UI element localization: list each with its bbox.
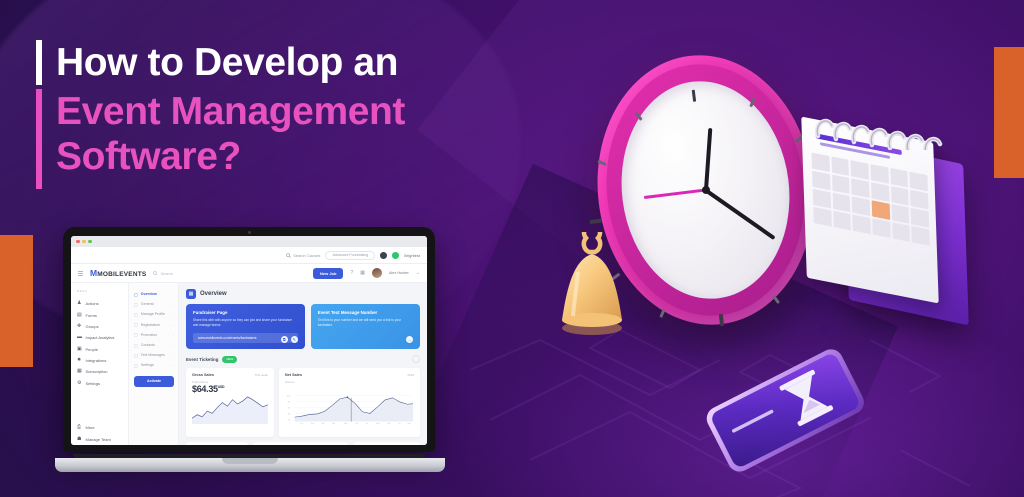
sidebar-spacer (77, 389, 123, 422)
svg-text:Sep: Sep (387, 423, 390, 425)
sidebar: MENU ♟ Actions ▤ Forms ✥ Groups (71, 283, 129, 445)
status-badge: NEW (222, 356, 237, 363)
subnav-item-label: Contacts (141, 343, 155, 347)
promo-actions: ⧉ ✎ (281, 336, 298, 343)
calendar-day (851, 178, 869, 198)
sidebar-item-integrations[interactable]: ✸ Integrations (77, 355, 123, 366)
headline-block: How to Develop an Event Management Softw… (36, 40, 506, 189)
contacts-icon: ▢ (134, 343, 138, 348)
headline-line-3: Software? (56, 134, 405, 179)
card-ticket-type-sales: Ticket Type Sales ⋯ General 500 Sold (353, 442, 420, 445)
hamburger-icon[interactable] (78, 271, 83, 276)
decor-bar-left (0, 235, 33, 367)
card-event-date: Event Date Starts 27 Jun, 2019 (186, 442, 248, 445)
sidebar-item-more[interactable]: ⎙ More (77, 422, 123, 433)
card-total-emails-sent: Total Emails Sent ⋯ ✉ Total sent 2780 (253, 442, 348, 445)
maximize-icon[interactable] (88, 240, 92, 244)
svg-text:Aug: Aug (376, 422, 379, 425)
calendar-day (891, 186, 909, 206)
clock-minute-hand (704, 189, 775, 240)
card-title: Net Sales (285, 373, 302, 377)
banner-root: How to Develop an Event Management Softw… (0, 0, 1024, 497)
minimize-icon[interactable] (82, 240, 86, 244)
calendar-day (912, 226, 930, 246)
chevron-right-icon: › (173, 312, 174, 316)
new-job-button[interactable]: New Job (313, 268, 343, 279)
help-icon[interactable]: ? (350, 270, 353, 276)
subnav-item-registration[interactable]: ▢ Registration › (134, 320, 174, 330)
svg-text:Mar: Mar (321, 422, 325, 425)
laptop-mockup: Search Causes Advanced Fundraising Brigh… (55, 227, 445, 472)
app-header: MMOBILEVENTS Search New Job ? ▦ Alex Hun… (71, 264, 427, 283)
calendar-day (812, 171, 830, 191)
dashboard-body: MENU ♟ Actions ▤ Forms ✥ Groups (71, 283, 427, 445)
team-icon: ☗ (77, 437, 82, 442)
clock-tick (691, 90, 696, 102)
avatar[interactable] (372, 268, 382, 278)
calendar-day (891, 204, 909, 224)
subnav-item-general[interactable]: ▢ General › (134, 299, 174, 309)
subnav-item-promotion[interactable]: ▢ Promotion › (134, 330, 174, 340)
calendar-day (890, 168, 908, 188)
subnav-item-label: Manage Profile (141, 312, 165, 316)
calendar-day (872, 218, 890, 238)
search-causes-label: Search Causes (293, 253, 320, 258)
promo-title: Event Text Message Number (318, 310, 413, 315)
activate-button[interactable]: Activate (134, 376, 174, 387)
user-name-label: Alex Hunter (389, 271, 409, 275)
search-causes[interactable]: Search Causes (286, 253, 320, 258)
card-value: $64.35USD (192, 384, 268, 394)
subnav-item-contacts[interactable]: ▢ Contacts › (134, 340, 174, 350)
laptop-lid: Search Causes Advanced Fundraising Brigh… (63, 227, 435, 452)
search-icon (286, 253, 291, 258)
promo-card-fundraiser[interactable]: Fundraiser Page Share this with with any… (186, 304, 305, 349)
subnav-item-text-messages[interactable]: ▢ Text Messages › (134, 350, 174, 360)
subnav-item-label: Text Messages (141, 353, 165, 357)
svg-text:Jun: Jun (355, 423, 358, 425)
webcam-icon (248, 231, 251, 234)
app-search-placeholder: Search (160, 271, 173, 276)
sidebar-item-label: Groups (86, 324, 99, 329)
sidebar-item-settings[interactable]: ⚙ Settings (77, 378, 123, 389)
svg-text:80: 80 (288, 402, 291, 404)
plug-icon: ✸ (77, 358, 82, 363)
analytics-icon: ▬ (77, 335, 82, 340)
promo-description: Share this with with anyone so they can … (193, 318, 298, 327)
gear-icon[interactable] (380, 252, 387, 259)
subnav-item-label: Registration (141, 323, 160, 327)
svg-text:Oct: Oct (398, 422, 401, 425)
promo-row: Fundraiser Page Share this with with any… (186, 304, 420, 349)
card-icon: ▦ (77, 369, 82, 374)
chevron-right-icon: › (173, 323, 174, 327)
smartphone (692, 338, 877, 483)
sidebar-item-people[interactable]: ▣ People (77, 344, 123, 355)
sidebar-item-label: Manage Team (86, 437, 111, 442)
sidebar-item-label: Subscription (86, 369, 108, 374)
sidebar-item-label: Forms (86, 313, 97, 318)
charts-row: Gross Sales This week Total Volume $64.3… (186, 368, 420, 437)
groups-icon: ✥ (77, 324, 82, 329)
calendar-day (910, 172, 928, 192)
chevron-right-icon: › (173, 353, 174, 357)
promo-card-text-message[interactable]: Event Text Message Number Text this to y… (311, 304, 420, 349)
subnav-item-manage-profile[interactable]: ▢ Manage Profile › (134, 309, 174, 319)
gross-sales-currency: USD (218, 385, 225, 389)
stats-row: Event Date Starts 27 Jun, 2019 (186, 442, 420, 445)
chevron-right-icon: › (173, 333, 174, 337)
gross-sales-value: $64.35 (192, 384, 218, 394)
promo-actions: → (406, 336, 413, 343)
check-circle-icon[interactable] (392, 252, 399, 259)
calendar-day (910, 190, 928, 210)
grid-icon: ▦ (186, 289, 196, 299)
subnav-item-label: Promotion (141, 333, 157, 337)
calendar-day (831, 156, 849, 176)
edit-icon[interactable]: ✎ (291, 336, 298, 343)
clock-hour-hand (704, 128, 712, 190)
refresh-icon[interactable] (412, 355, 420, 363)
section-header-event-ticketing: Event Ticketing NEW (186, 355, 420, 363)
advanced-fundraising-pill[interactable]: Advanced Fundraising (325, 251, 375, 260)
calendar-day (811, 152, 829, 172)
headline-accent-bar-pink (36, 89, 42, 189)
calendar-day (813, 207, 831, 227)
general-icon: ▢ (134, 302, 138, 307)
laptop-screen: Search Causes Advanced Fundraising Brigh… (71, 236, 427, 445)
sidebar-item-label: Impact Analytics (86, 335, 115, 340)
gear-icon: ⚙ (77, 381, 82, 386)
section-title: Event Ticketing (186, 357, 218, 362)
svg-text:Jan: Jan (300, 423, 303, 425)
headline-line-1: How to Develop an (56, 40, 398, 85)
main-content: ▦ Overview Fundraiser Page Share this wi… (179, 283, 427, 445)
chevron-right-icon: › (173, 302, 174, 306)
svg-text:May: May (344, 423, 348, 425)
sidebar-item-groups[interactable]: ✥ Groups (77, 321, 123, 332)
registration-icon: ▢ (134, 322, 138, 327)
svg-text:Nov: Nov (408, 423, 411, 425)
copy-icon[interactable]: ⧉ (281, 336, 288, 343)
chevron-right-icon: › (173, 343, 174, 347)
arrow-icon[interactable]: → (406, 336, 413, 343)
page-title: Overview (200, 291, 227, 297)
page-title-block: ▦ Overview (186, 289, 420, 299)
svg-text:100: 100 (287, 396, 291, 398)
sidebar-item-label: Integrations (86, 358, 107, 363)
browser-chrome (71, 236, 427, 247)
svg-text:60: 60 (288, 408, 291, 410)
site-top-bar: Search Causes Advanced Fundraising Brigh… (71, 247, 427, 264)
calendar-day (870, 164, 888, 184)
close-icon[interactable] (76, 240, 80, 244)
promo-title: Fundraiser Page (193, 310, 298, 315)
sidebar-item-subscription[interactable]: ▦ Subscription (77, 366, 123, 377)
headline-accent-bar-white (36, 40, 42, 85)
calendar-day (853, 215, 871, 235)
calendar-day (813, 189, 831, 209)
calendar-spiral-binding (810, 110, 950, 150)
printer-icon: ⎙ (77, 425, 82, 430)
calendar-day-highlighted (872, 200, 890, 220)
actions-icon: ♟ (77, 301, 82, 306)
profile-icon: ▢ (134, 312, 138, 317)
gross-sales-area-chart (192, 394, 268, 424)
card-title: Gross Sales (192, 373, 214, 377)
subnav-item-label: Settings (141, 363, 154, 367)
app-search-input[interactable]: Search (153, 271, 306, 276)
notification-bell (556, 232, 628, 337)
svg-text:Feb: Feb (311, 423, 314, 425)
calendar-day (851, 160, 869, 180)
overview-icon: ▢ (134, 292, 138, 297)
card-gross-sales: Gross Sales This week Total Volume $64.3… (186, 368, 274, 437)
svg-text:40: 40 (288, 414, 291, 416)
promo-description: Text this to your number and we will sen… (318, 318, 413, 327)
gear-icon: ▢ (134, 363, 138, 368)
sub-navigation: ▢ Overview ▢ General › ▢ Manage Profile … (129, 283, 179, 445)
account-menu[interactable]: Brightest (404, 253, 420, 258)
net-sales-area-chart: 10080 6040 20 JanFebMar (285, 384, 414, 432)
chevron-right-icon: › (173, 363, 174, 367)
sidebar-item-label: People (86, 347, 98, 352)
sidebar-section-label: MENU (77, 289, 123, 293)
subnav-item-overview[interactable]: ▢ Overview (134, 289, 174, 299)
promotion-icon: ▢ (134, 332, 138, 337)
calendar-day (911, 208, 929, 228)
svg-text:Jul: Jul (366, 423, 369, 425)
sidebar-item-actions[interactable]: ♟ Actions (77, 298, 123, 309)
app-logo-text: MOBILEVENTS (97, 271, 146, 278)
forms-icon: ▤ (77, 313, 82, 318)
sidebar-item-impact-analytics[interactable]: ▬ Impact Analytics (77, 332, 123, 343)
clock-second-hand (644, 189, 706, 200)
subnav-item-label: Overview (141, 292, 157, 296)
sidebar-item-manage-team[interactable]: ☗ Manage Team (77, 434, 123, 445)
decor-bar-right (994, 47, 1024, 178)
people-icon: ▣ (77, 347, 82, 352)
grid-icon[interactable]: ▦ (360, 270, 365, 276)
calendar-day (833, 211, 851, 231)
calendar-day (892, 222, 910, 242)
chevron-down-icon[interactable]: ⌄ (416, 270, 420, 276)
svg-text:20: 20 (288, 420, 291, 422)
calendar-day (852, 196, 870, 216)
sidebar-item-label: More (86, 425, 95, 430)
calendar-day (832, 193, 850, 213)
sidebar-item-label: Actions (86, 301, 99, 306)
desk-calendar (800, 108, 965, 323)
calendar-day (871, 182, 889, 202)
card-menu[interactable]: This week (254, 373, 268, 377)
app-logo[interactable]: MMOBILEVENTS (90, 268, 146, 278)
sidebar-item-label: Settings (86, 381, 100, 386)
search-icon (153, 271, 158, 276)
card-net-sales: Net Sales 2019 Volume (279, 368, 420, 437)
subnav-item-settings[interactable]: ▢ Settings › (134, 360, 174, 370)
svg-text:Apr: Apr (332, 422, 335, 425)
sidebar-item-forms[interactable]: ▤ Forms (77, 309, 123, 320)
headline-line-2: Event Management (56, 89, 405, 134)
calendar-day (832, 174, 850, 194)
calendar-grid (811, 152, 929, 245)
messages-icon: ▢ (134, 353, 138, 358)
subnav-item-label: General (141, 302, 154, 306)
card-menu[interactable]: 2019 (407, 373, 414, 377)
laptop-base (55, 458, 445, 472)
